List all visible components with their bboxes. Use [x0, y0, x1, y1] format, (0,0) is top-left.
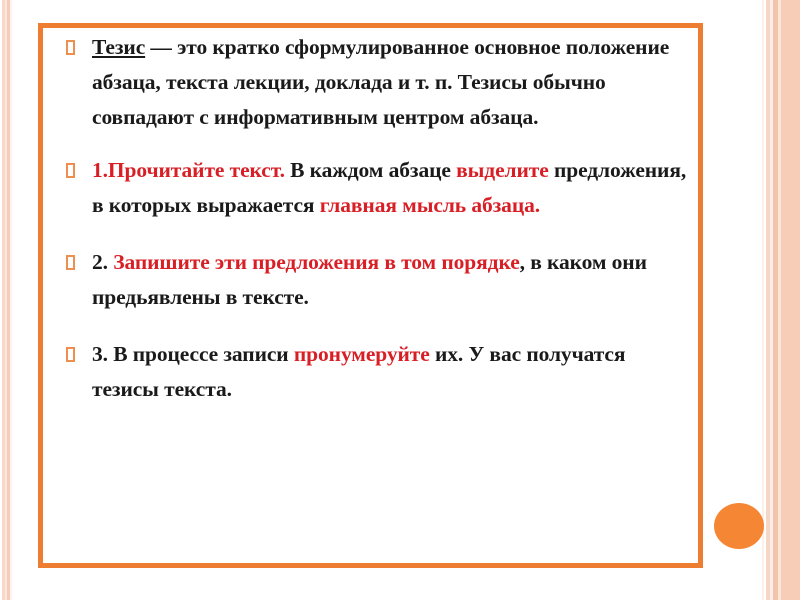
step-1-heading: 1.Прочитайте текст.: [92, 158, 285, 182]
slide-canvas: Тезис — это кратко сформулированное осно…: [0, 0, 800, 600]
decorative-stripe-right-2: [766, 0, 770, 600]
decorative-stripe-right-3: [770, 0, 773, 600]
decorative-stripe-right-5: [778, 0, 781, 600]
paragraph-definition-text: Тезис — это кратко сформулированное осно…: [92, 35, 669, 129]
hollow-rectangle-bullet-icon: [66, 255, 75, 270]
hollow-rectangle-bullet-icon: [66, 347, 75, 362]
step-1-emphasis-1: выделите: [456, 158, 549, 182]
step-3-emphasis: пронумеруйте: [294, 342, 430, 366]
slide-body: Тезис — это кратко сформулированное осно…: [62, 30, 692, 407]
definition-body: — это кратко сформулированное основное п…: [92, 35, 669, 129]
paragraph-step-3: 3. В процессе записи пронумеруйте их. У …: [62, 337, 692, 407]
accent-circle-decoration: [714, 503, 764, 549]
paragraph-step-1: 1.Прочитайте текст. В каждом абзаце выде…: [62, 153, 692, 223]
term-tezis: Тезис: [92, 35, 145, 59]
paragraph-definition: Тезис — это кратко сформулированное осно…: [62, 30, 692, 135]
step-2-number: 2.: [92, 250, 113, 274]
step-2-emphasis: Запишите эти предложения в том порядке: [113, 250, 519, 274]
paragraph-step-3-text: 3. В процессе записи пронумеруйте их. У …: [92, 342, 625, 401]
decorative-stripe-right-1: [762, 0, 764, 600]
step-3-text-a: 3. В процессе записи: [92, 342, 294, 366]
paragraph-step-1-text: 1.Прочитайте текст. В каждом абзаце выде…: [92, 158, 686, 217]
paragraph-step-2-text: 2. Запишите эти предложения в том порядк…: [92, 250, 647, 309]
decorative-stripe-left-4: [10, 0, 12, 600]
hollow-rectangle-bullet-icon: [66, 40, 75, 55]
hollow-rectangle-bullet-icon: [66, 163, 75, 178]
decorative-band-right: [781, 0, 800, 600]
paragraph-step-2: 2. Запишите эти предложения в том порядк…: [62, 245, 692, 315]
decorative-stripe-right-4: [773, 0, 778, 600]
step-1-text-a: В каждом абзаце: [285, 158, 456, 182]
step-1-emphasis-2: главная мысль абзаца.: [320, 193, 540, 217]
